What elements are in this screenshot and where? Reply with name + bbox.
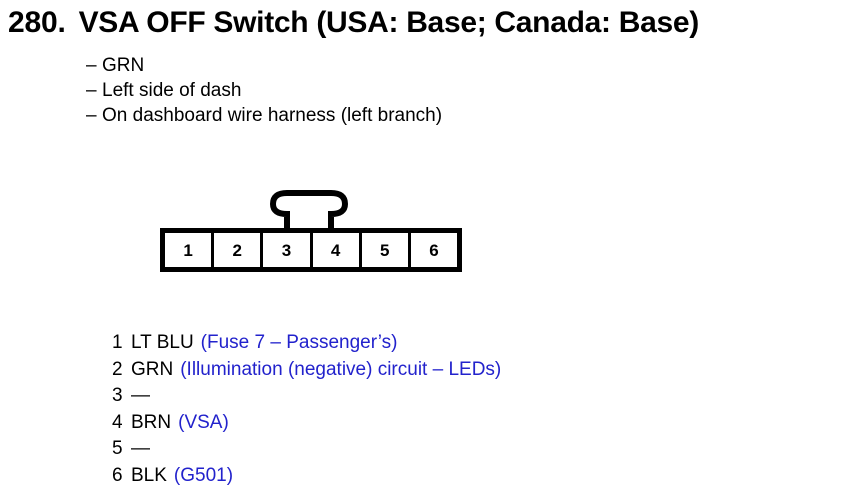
pin-legend-row: 3— (112, 383, 752, 410)
connector-pin-cell: 3 (263, 233, 309, 267)
connector-pin-row: 1 2 3 4 5 6 (160, 228, 462, 272)
pin-legend-row: 5— (112, 436, 752, 463)
pin-legend-description: (Illumination (negative) circuit – LEDs) (180, 359, 501, 380)
section-number: 280. (8, 6, 66, 40)
pin-legend-wire: GRN (131, 359, 173, 380)
pin-legend-description: (Fuse 7 – Passenger’s) (201, 332, 398, 353)
pin-legend-number: 6 (112, 463, 123, 490)
pin-cell-number: 3 (282, 242, 291, 259)
note-item-label: On dashboard wire harness (left branch) (102, 105, 442, 126)
pin-legend-wire: LT BLU (131, 332, 194, 353)
pin-legend-number: 3 (112, 383, 123, 410)
pin-cell-number: 1 (183, 242, 192, 259)
pin-legend-description: (G501) (174, 465, 233, 486)
note-item-label: Left side of dash (102, 80, 241, 101)
pin-legend-wire: BRN (131, 412, 171, 433)
note-dash-icon: – (86, 53, 102, 78)
note-item: –On dashboard wire harness (left branch) (86, 103, 786, 128)
pin-legend-list: 1LT BLU(Fuse 7 – Passenger’s) 2GRN(Illum… (112, 330, 752, 489)
note-item: –Left side of dash (86, 78, 786, 103)
pin-cell-number: 4 (331, 242, 340, 259)
pin-cell-number: 2 (233, 242, 242, 259)
pin-legend-row: 2GRN(Illumination (negative) circuit – L… (112, 357, 752, 384)
note-item: –GRN (86, 53, 786, 78)
connector-pin-cell: 1 (165, 233, 211, 267)
pin-cell-number: 5 (380, 242, 389, 259)
connector-pin-cell: 6 (411, 233, 457, 267)
note-dash-icon: – (86, 78, 102, 103)
connector-latch-icon (270, 190, 348, 232)
connector-pin-cell: 5 (362, 233, 408, 267)
pin-legend-number: 2 (112, 357, 123, 384)
pin-legend-wire: — (131, 385, 150, 406)
pin-legend-number: 5 (112, 436, 123, 463)
page-title: 280. VSA OFF Switch (USA: Base; Canada: … (8, 6, 844, 40)
note-dash-icon: – (86, 103, 102, 128)
connector-pin-cell: 4 (313, 233, 359, 267)
pin-legend-wire: BLK (131, 465, 167, 486)
pin-legend-wire: — (131, 438, 150, 459)
pin-legend-description: (VSA) (178, 412, 229, 433)
page-root: 280. VSA OFF Switch (USA: Base; Canada: … (0, 0, 846, 502)
pin-legend-row: 4BRN(VSA) (112, 410, 752, 437)
note-item-label: GRN (102, 55, 144, 76)
pin-legend-number: 1 (112, 330, 123, 357)
pin-legend-number: 4 (112, 410, 123, 437)
section-title: VSA OFF Switch (USA: Base; Canada: Base) (79, 6, 699, 40)
pin-legend-row: 1LT BLU(Fuse 7 – Passenger’s) (112, 330, 752, 357)
pin-cell-number: 6 (429, 242, 438, 259)
notes-list: –GRN –Left side of dash –On dashboard wi… (86, 53, 786, 128)
connector-diagram: 1 2 3 4 5 6 (160, 190, 462, 272)
pin-legend-row: 6BLK(G501) (112, 463, 752, 490)
connector-pin-cell: 2 (214, 233, 260, 267)
